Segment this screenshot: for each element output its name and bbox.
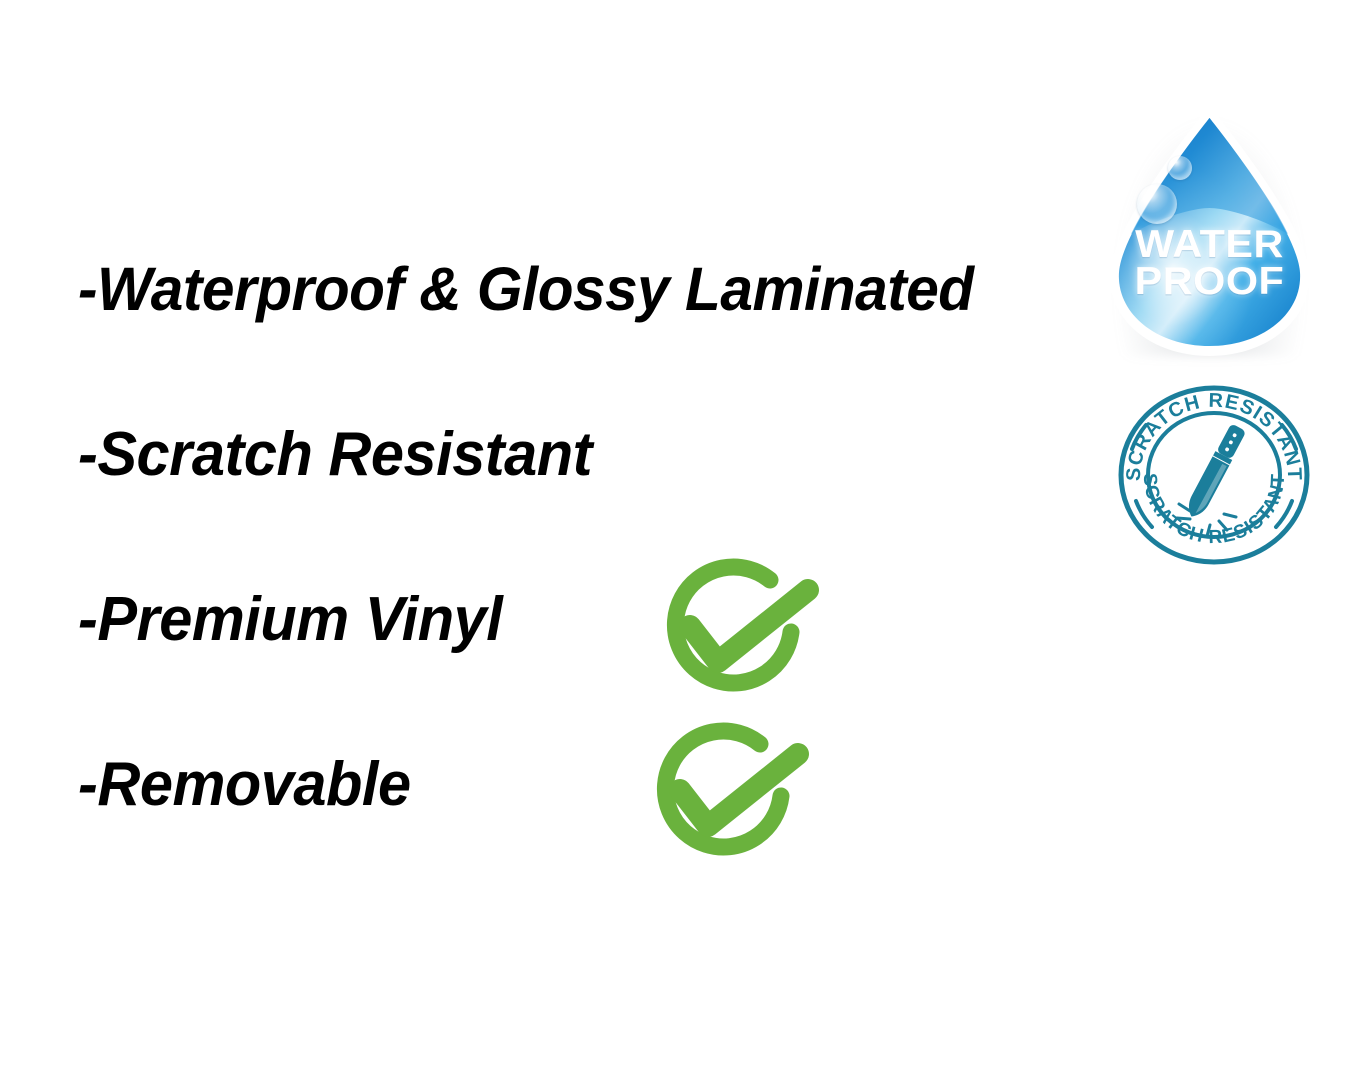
feature-item-waterproof-glossy-laminated: -Waterproof & Glossy Laminated <box>78 258 1067 423</box>
scratch-resistant-badge: SCRATCH RESISTANT SCRATCH RESISTANT <box>1118 385 1310 565</box>
feature-list: -Waterproof & Glossy Laminated -Scratch … <box>78 258 1108 918</box>
feature-item-removable: -Removable <box>78 753 1067 918</box>
water-bubble-small-icon <box>1168 156 1192 180</box>
green-check-circle-removable <box>632 722 832 874</box>
feature-item-premium-vinyl: -Premium Vinyl <box>78 588 1067 753</box>
product-feature-graphic: -Waterproof & Glossy Laminated -Scratch … <box>0 0 1359 1080</box>
feature-item-scratch-resistant: -Scratch Resistant <box>78 423 1067 588</box>
waterproof-badge: WATER PROOF <box>1106 104 1313 360</box>
water-bubble-large-icon <box>1137 184 1177 224</box>
waterproof-label-line-2: PROOF <box>1100 263 1319 300</box>
waterproof-label: WATER PROOF <box>1100 226 1319 300</box>
green-check-circle-premium-vinyl <box>642 558 842 710</box>
waterproof-label-line-1: WATER <box>1100 226 1319 263</box>
knife-icon <box>1183 423 1247 521</box>
